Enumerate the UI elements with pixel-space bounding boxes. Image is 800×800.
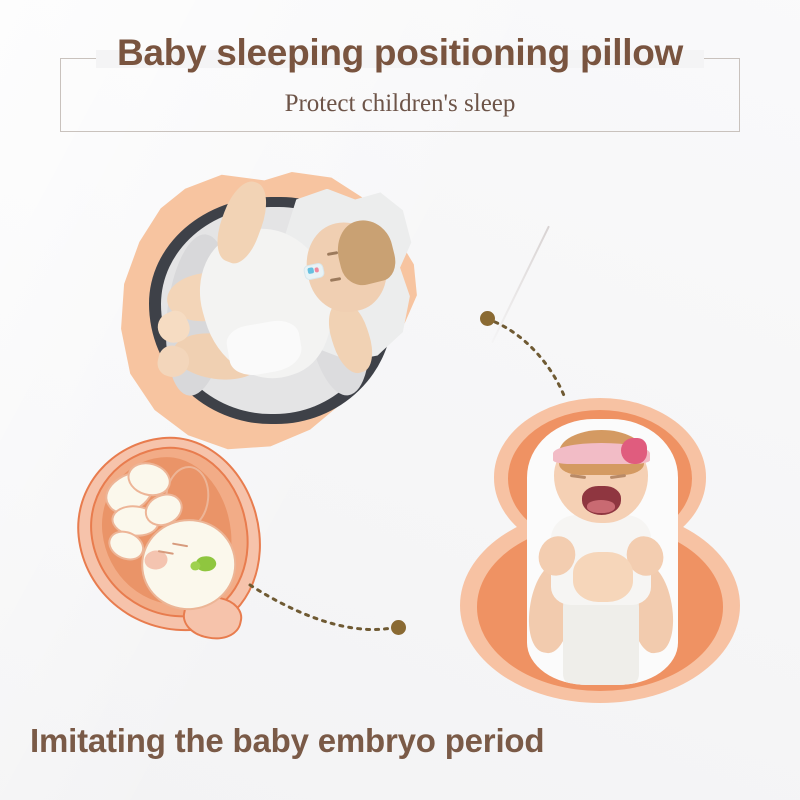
product-banner: Baby sleeping positioning pillow Protect… xyxy=(0,0,800,800)
page-title: Baby sleeping positioning pillow xyxy=(0,32,800,74)
embryo-illustration xyxy=(68,428,269,642)
product-photo xyxy=(118,172,423,452)
laughing-baby-photo xyxy=(527,419,678,684)
background-streak xyxy=(491,226,550,344)
bottom-caption: Imitating the baby embryo period xyxy=(30,722,544,760)
connector-dot-upper xyxy=(480,311,495,326)
laughing-baby-hands-feet xyxy=(573,552,633,602)
lower-dashed-path xyxy=(250,585,392,630)
page-subtitle: Protect children's sleep xyxy=(0,90,800,118)
baby-photo xyxy=(460,398,740,703)
laughing-baby-romper-bottom xyxy=(563,592,639,685)
connector-dot-lower xyxy=(391,620,406,635)
upper-dashed-path xyxy=(495,322,565,398)
laughing-baby-mouth xyxy=(582,486,621,515)
bow-icon xyxy=(621,438,647,465)
